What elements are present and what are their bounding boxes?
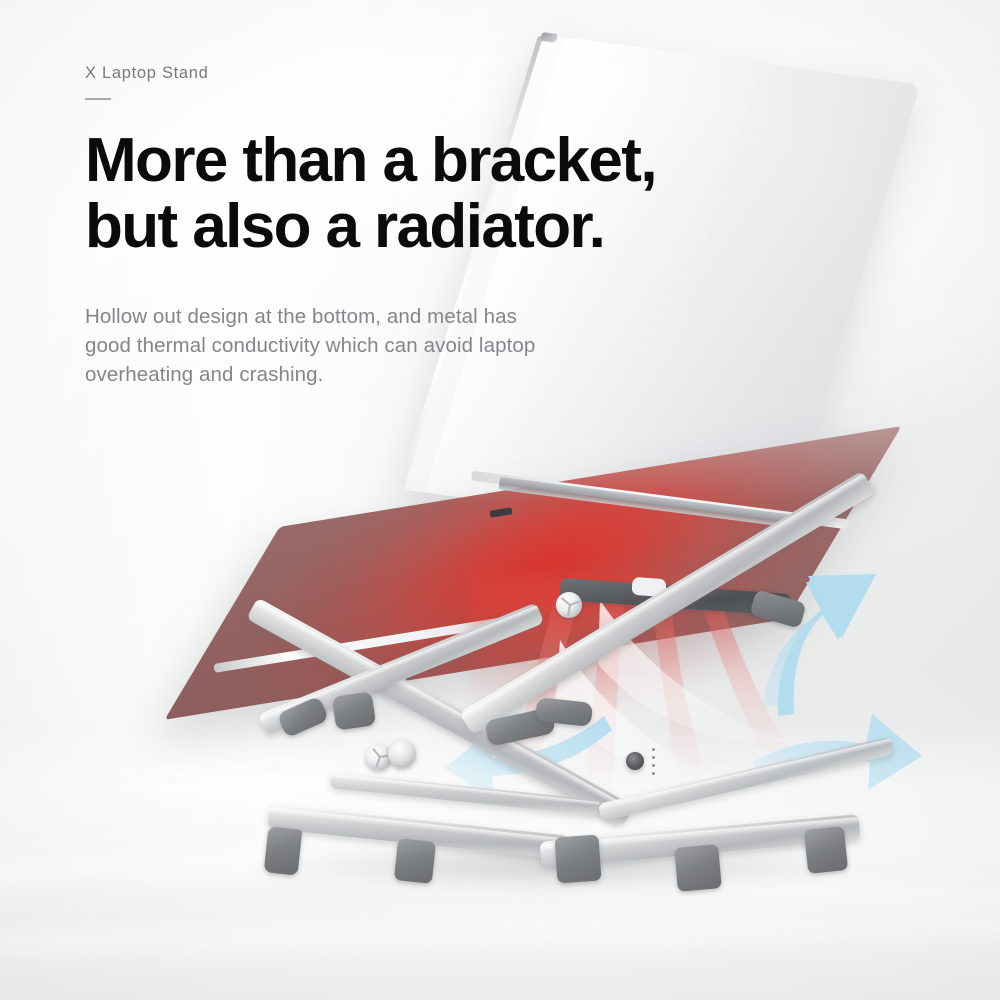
headline-line-2: but also a radiator. <box>85 194 705 260</box>
product-marketing-banner: X Laptop Stand More than a bracket, but … <box>0 0 1000 1000</box>
eyebrow-rule <box>85 98 111 100</box>
body-line-3: overheating and crashing. <box>85 360 705 389</box>
body-line-2: good thermal conductivity which can avoi… <box>85 331 705 360</box>
product-eyebrow: X Laptop Stand <box>85 64 705 83</box>
page-headline: More than a bracket, but also a radiator… <box>85 128 705 260</box>
page-body-copy: Hollow out design at the bottom, and met… <box>85 302 705 389</box>
body-line-1: Hollow out design at the bottom, and met… <box>85 302 705 331</box>
copy-block: X Laptop Stand More than a bracket, but … <box>85 64 705 409</box>
headline-line-1: More than a bracket, <box>85 128 705 194</box>
